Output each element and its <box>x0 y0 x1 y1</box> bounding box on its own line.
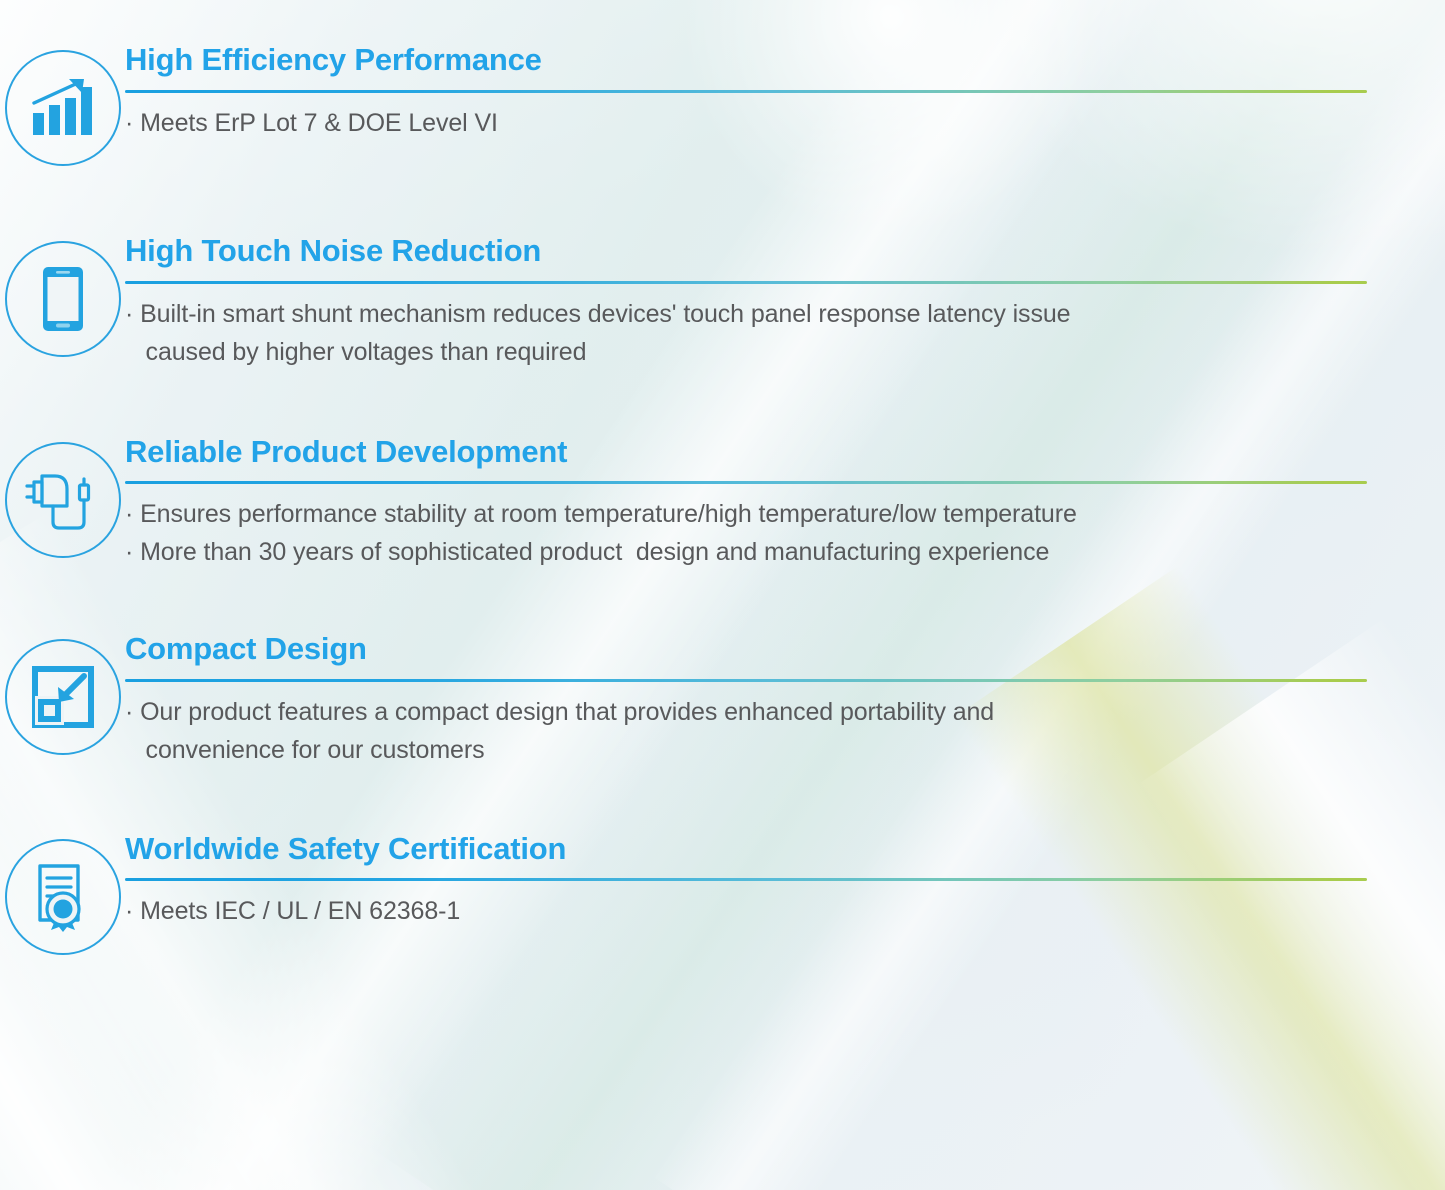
feature-item-high-touch-noise-reduction: High Touch Noise Reduction · Built-in sm… <box>0 235 1445 371</box>
feature-divider <box>125 679 1367 682</box>
smartphone-icon <box>41 265 85 333</box>
feature-bullet-line: · Our product features a compact design … <box>125 693 1367 769</box>
feature-list-page: High Efficiency Performance · Meets ErP … <box>0 0 1445 1190</box>
feature-body: High Efficiency Performance · Meets ErP … <box>125 44 1445 142</box>
feature-bullets: · Ensures performance stability at room … <box>125 495 1367 571</box>
feature-divider <box>125 878 1367 881</box>
feature-icon-wrapper <box>0 633 125 755</box>
feature-item-worldwide-safety-certification: Worldwide Safety Certification · Meets I… <box>0 833 1445 955</box>
feature-bullets: · Built-in smart shunt mechanism reduces… <box>125 295 1367 371</box>
feature-body: Worldwide Safety Certification · Meets I… <box>125 833 1445 931</box>
feature-body: Compact Design · Our product features a … <box>125 633 1445 769</box>
feature-title: Compact Design <box>125 633 1367 666</box>
feature-item-reliable-product-development: Reliable Product Development · Ensures p… <box>0 436 1445 572</box>
feature-icon-wrapper <box>0 436 125 558</box>
icon-circle <box>5 50 121 166</box>
feature-title: High Touch Noise Reduction <box>125 235 1367 268</box>
feature-title: High Efficiency Performance <box>125 44 1367 77</box>
feature-item-high-efficiency-performance: High Efficiency Performance · Meets ErP … <box>0 44 1445 166</box>
feature-divider <box>125 281 1367 284</box>
certificate-seal-icon <box>32 862 94 932</box>
feature-title: Worldwide Safety Certification <box>125 833 1367 866</box>
feature-bullet-line: · Meets ErP Lot 7 & DOE Level VI <box>125 104 1367 142</box>
compact-resize-icon <box>32 666 94 728</box>
feature-item-compact-design: Compact Design · Our product features a … <box>0 633 1445 769</box>
feature-divider <box>125 481 1367 484</box>
feature-bullet-line: · Ensures performance stability at room … <box>125 495 1367 533</box>
icon-circle <box>5 442 121 558</box>
icon-circle <box>5 839 121 955</box>
bar-chart-growth-icon <box>30 77 96 139</box>
feature-body: High Touch Noise Reduction · Built-in sm… <box>125 235 1445 371</box>
feature-bullets: · Our product features a compact design … <box>125 693 1367 769</box>
feature-divider <box>125 90 1367 93</box>
feature-bullet-line: · Meets IEC / UL / EN 62368-1 <box>125 892 1367 930</box>
feature-bullet-line: · Built-in smart shunt mechanism reduces… <box>125 295 1367 371</box>
feature-bullets: · Meets ErP Lot 7 & DOE Level VI <box>125 104 1367 142</box>
feature-icon-wrapper <box>0 833 125 955</box>
feature-icon-wrapper <box>0 44 125 166</box>
icon-circle <box>5 241 121 357</box>
feature-body: Reliable Product Development · Ensures p… <box>125 436 1445 572</box>
power-adapter-icon <box>25 466 101 534</box>
feature-title: Reliable Product Development <box>125 436 1367 469</box>
feature-bullet-line: · More than 30 years of sophisticated pr… <box>125 533 1367 571</box>
feature-icon-wrapper <box>0 235 125 357</box>
feature-bullets: · Meets IEC / UL / EN 62368-1 <box>125 892 1367 930</box>
feature-list: High Efficiency Performance · Meets ErP … <box>0 44 1445 955</box>
icon-circle <box>5 639 121 755</box>
